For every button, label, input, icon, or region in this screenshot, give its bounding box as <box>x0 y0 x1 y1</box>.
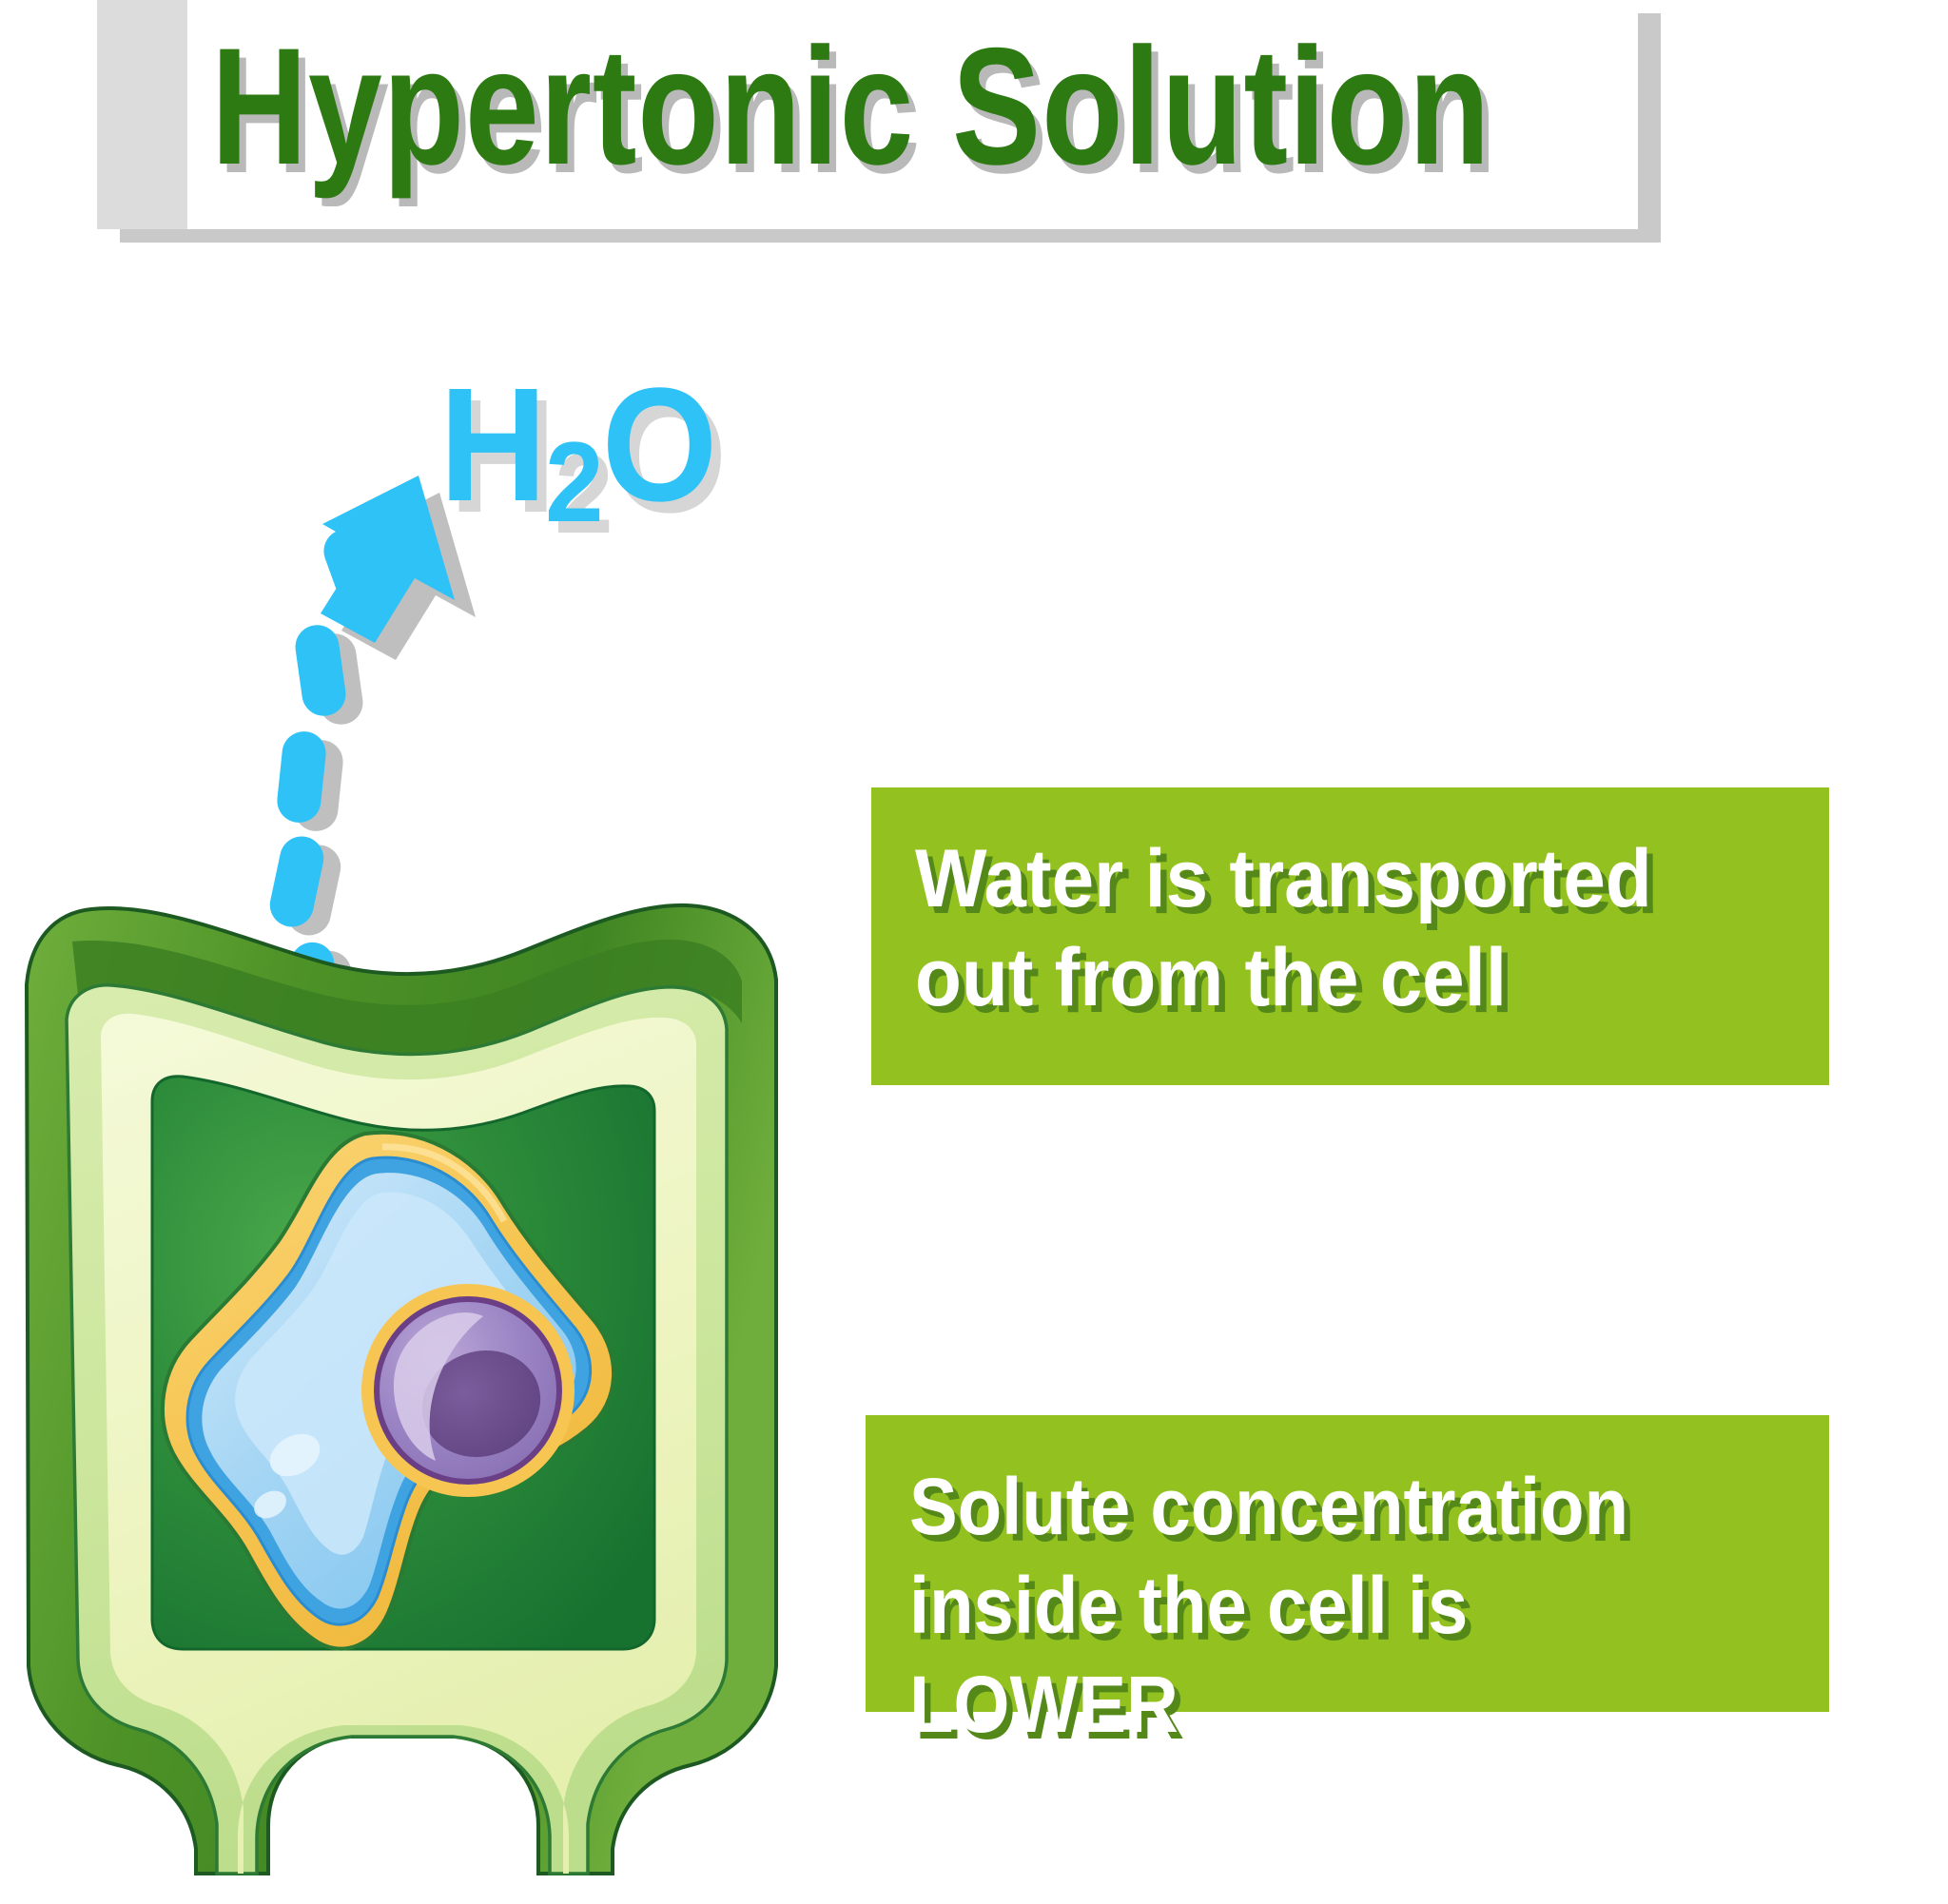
arrow-head-icon <box>321 476 455 643</box>
title-banner-side-bar <box>97 0 187 229</box>
infographic-page: Hypertonic Solution H2O <box>0 0 1948 1904</box>
h2o-subscript: 2 <box>545 418 602 546</box>
page-title: Hypertonic Solution <box>211 8 1353 207</box>
caption-solute-concentration: Solute concentration inside the cell is … <box>866 1415 1829 1712</box>
h2o-prefix: H <box>439 355 545 535</box>
caption-solute-concentration-text: Solute concentration inside the cell is … <box>909 1457 1703 1754</box>
h2o-suffix: O <box>602 355 716 535</box>
water-molecule-label: H2O <box>439 352 716 548</box>
caption-water-transport-text: Water is transported out from the cell <box>915 829 1724 1027</box>
plant-cell-diagram <box>10 799 808 1883</box>
caption-water-transport: Water is transported out from the cell <box>871 787 1829 1085</box>
title-banner: Hypertonic Solution <box>97 0 1638 229</box>
